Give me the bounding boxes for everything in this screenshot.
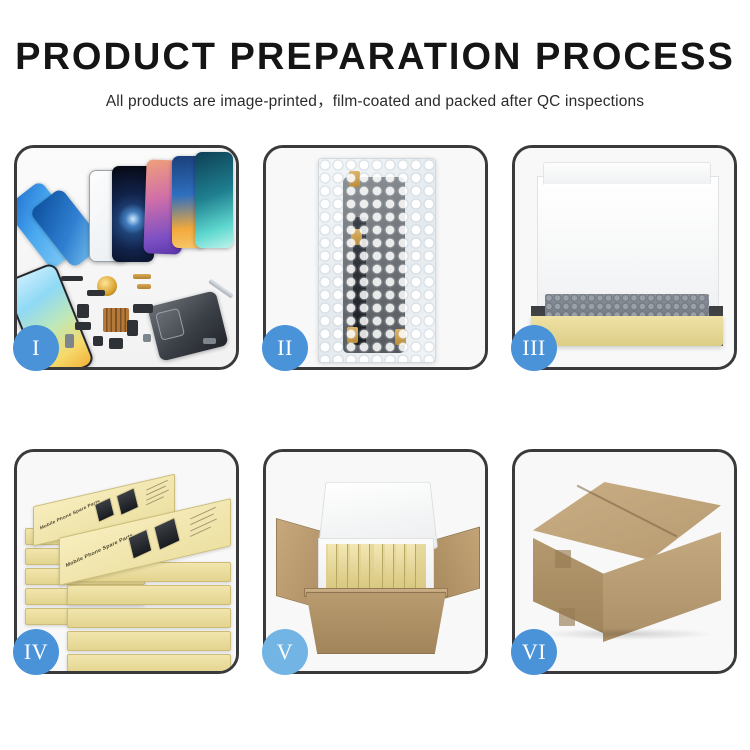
step-badge-5: V xyxy=(262,629,308,675)
small-part-icon xyxy=(93,336,103,346)
header: PRODUCT PREPARATION PROCESS All products… xyxy=(0,0,750,111)
step-numeral-6: VI xyxy=(522,639,546,665)
step-numeral-5: V xyxy=(277,639,293,665)
stacked-box xyxy=(67,608,231,628)
step-numeral-4: IV xyxy=(24,639,48,665)
stacked-box xyxy=(67,631,231,651)
box-label-text: Mobile Phone Spare Parts xyxy=(65,533,133,569)
gold-tab-icon xyxy=(351,229,362,245)
carton-shadow xyxy=(539,628,715,640)
step-panel-1: I xyxy=(14,145,239,370)
box-window-icon xyxy=(116,487,139,516)
small-part-icon xyxy=(203,338,216,344)
box-window-icon xyxy=(153,517,180,551)
page-subtitle: All products are image-printed，film-coat… xyxy=(0,89,750,111)
small-part-icon xyxy=(143,334,151,342)
gold-tab-icon xyxy=(347,327,358,343)
small-part-icon xyxy=(87,290,105,296)
gold-tab-icon xyxy=(349,171,360,187)
process-steps-grid: I II xyxy=(14,145,736,674)
step-panel-4: Mobile Phone Spare Parts xyxy=(14,449,239,674)
product-preparation-infographic: PRODUCT PREPARATION PROCESS All products… xyxy=(0,0,750,750)
chip-grid-icon xyxy=(103,308,129,332)
small-part-icon xyxy=(65,334,74,348)
small-part-icon xyxy=(109,338,123,349)
step-badge-3: III xyxy=(511,325,557,371)
stacked-box xyxy=(67,585,231,605)
kraft-box-front-icon xyxy=(531,316,723,346)
small-part-icon xyxy=(137,284,151,289)
step-numeral-2: II xyxy=(277,335,293,361)
carton-body-icon xyxy=(306,592,446,654)
small-part-icon xyxy=(133,304,153,313)
small-part-icon xyxy=(61,276,83,281)
box-label-text: Mobile Phone Spare Parts xyxy=(39,498,100,530)
carton-tape-icon xyxy=(559,608,575,626)
phone-back-shell-icon xyxy=(147,290,228,361)
small-part-icon xyxy=(133,274,151,279)
packed-boxes-icon xyxy=(326,544,426,592)
small-part-icon xyxy=(75,322,91,330)
box-text-line xyxy=(190,513,214,525)
box-stack-icon: Mobile Phone Spare Parts xyxy=(25,474,231,664)
step-badge-6: VI xyxy=(511,629,557,675)
white-foam-sheet-icon xyxy=(543,184,713,292)
small-part-icon xyxy=(127,320,138,336)
teal-phone-screen-icon xyxy=(195,152,233,248)
step-badge-2: II xyxy=(262,325,308,371)
bubble-wrap-bag-icon xyxy=(318,158,436,363)
carton-tape-icon xyxy=(555,550,571,568)
step-panel-2: II xyxy=(263,145,488,370)
step-numeral-3: III xyxy=(522,335,545,361)
stacked-box xyxy=(67,654,231,671)
step-panel-5: V xyxy=(263,449,488,674)
small-part-icon xyxy=(77,304,89,318)
step-badge-1: I xyxy=(13,325,59,371)
step-numeral-1: I xyxy=(32,335,40,361)
gold-tab-icon xyxy=(395,329,406,345)
step-badge-4: IV xyxy=(13,629,59,675)
step-panel-3: III xyxy=(512,145,737,370)
page-title: PRODUCT PREPARATION PROCESS xyxy=(0,38,750,78)
step-panel-6: VI xyxy=(512,449,737,674)
